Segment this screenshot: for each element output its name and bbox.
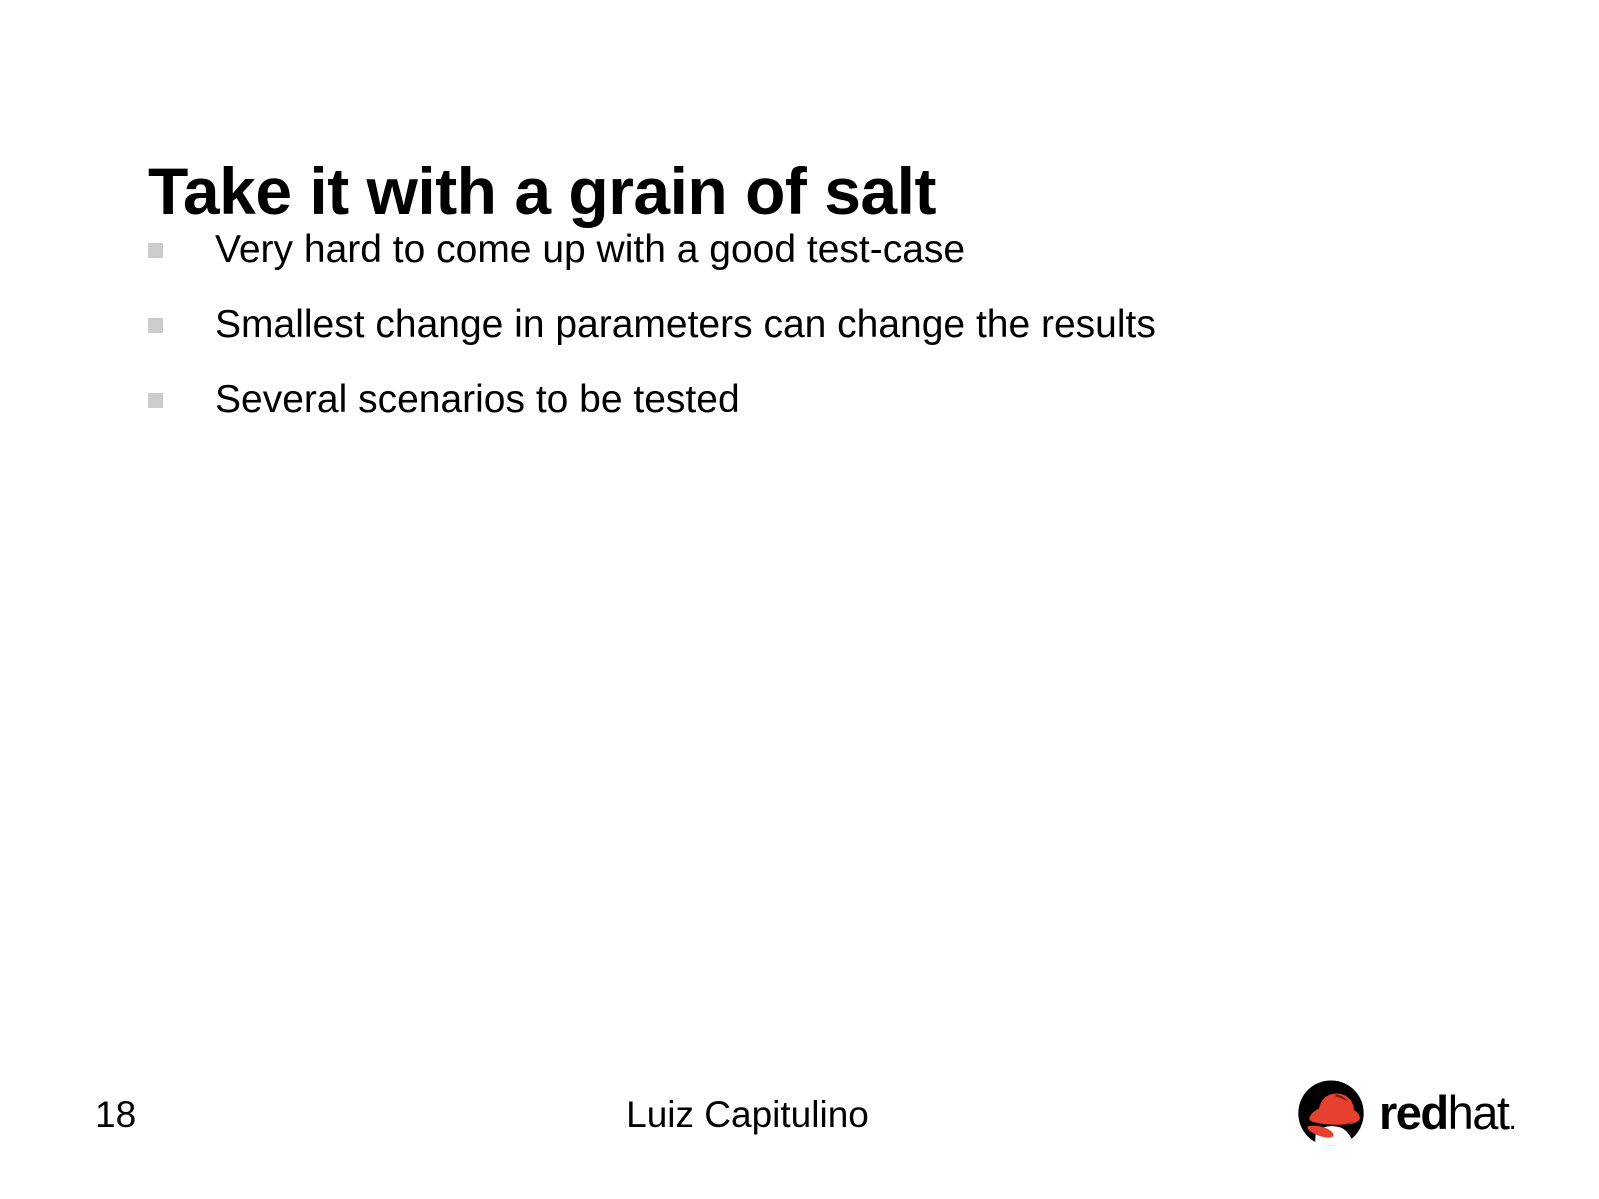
footer-author: Luiz Capitulino (0, 1093, 1495, 1137)
square-bullet-icon (148, 318, 163, 333)
square-bullet-icon (148, 243, 163, 258)
list-item: Very hard to come up with a good test-ca… (148, 228, 1408, 272)
list-item-label: Several scenarios to be tested (163, 378, 1408, 422)
list-item-label: Very hard to come up with a good test-ca… (163, 228, 1408, 272)
redhat-shadowman-icon (1293, 1076, 1369, 1152)
redhat-wordmark: redhat. (1379, 1089, 1515, 1143)
slide-canvas: Take it with a grain of salt Very hard t… (0, 0, 1599, 1199)
square-bullet-icon (148, 393, 163, 408)
wordmark-red: red (1379, 1086, 1448, 1139)
list-item-label: Smallest change in parameters can change… (163, 303, 1408, 347)
redhat-logo: redhat. (1293, 1062, 1519, 1166)
page-title: Take it with a grain of salt (148, 158, 1348, 224)
bullet-list: Very hard to come up with a good test-ca… (148, 228, 1408, 422)
wordmark-dot: . (1508, 1103, 1515, 1136)
wordmark-hat: hat (1448, 1086, 1509, 1139)
list-item: Several scenarios to be tested (148, 378, 1408, 422)
list-item: Smallest change in parameters can change… (148, 303, 1408, 347)
